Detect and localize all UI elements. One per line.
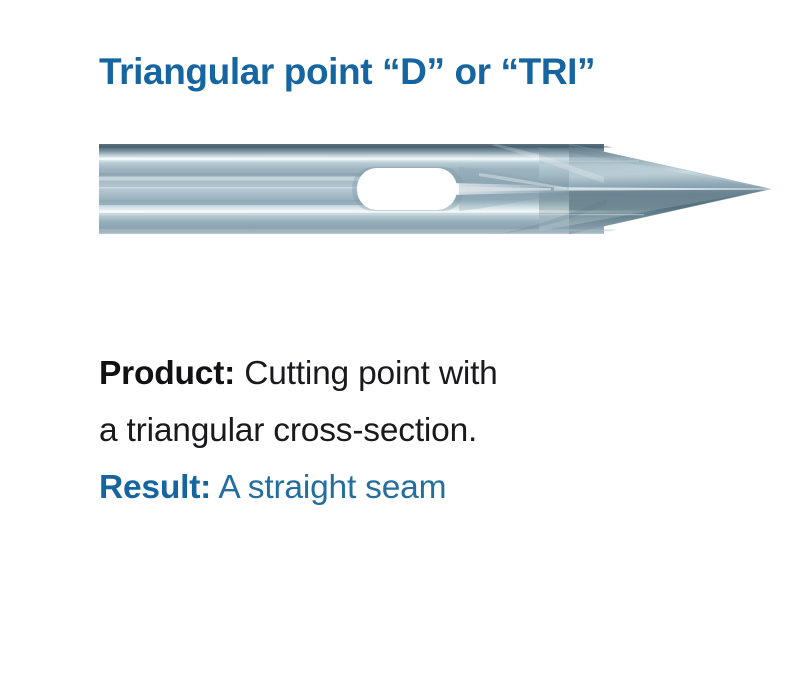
description-line-product: Product: Cutting point with	[99, 345, 699, 402]
description-block: Product: Cutting point with a triangular…	[99, 345, 699, 516]
page-title: Triangular point “D” or “TRI”	[99, 50, 739, 94]
result-label: Result:	[99, 469, 211, 506]
product-text: Cutting point with	[235, 355, 497, 392]
description-line-result: Result: A straight seam	[99, 459, 699, 516]
description-line-product-continued: a triangular cross-section.	[99, 402, 699, 459]
needle-illustration-svg	[99, 143, 771, 235]
needle-eye	[352, 167, 464, 211]
needle-point-info-card: Triangular point “D” or “TRI”	[0, 0, 804, 677]
product-text-continued: a triangular cross-section.	[99, 412, 477, 449]
product-label: Product:	[99, 355, 235, 392]
result-text: A straight seam	[211, 469, 446, 506]
sewing-needle-triangular-point-photo	[99, 143, 771, 235]
